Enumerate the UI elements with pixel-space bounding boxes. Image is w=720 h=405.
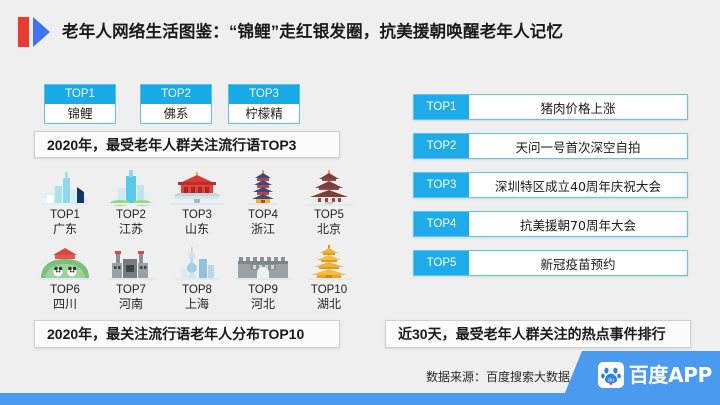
region-item-10[interactable]: TOP10 湖北: [296, 243, 362, 312]
buzzwords-caption: 2020年，最受老年人群关注流行语TOP3: [34, 131, 340, 158]
page-title: 老年人网络生活图鉴：“锦鲤”走红银发圈，抗美援朝唤醒老年人记忆: [62, 17, 563, 47]
temple-of-heaven-icon: [296, 168, 362, 208]
oriental-pearl-icon: [164, 243, 230, 283]
region-rank-1: TOP1: [32, 208, 98, 222]
skyline-icon: [32, 168, 98, 208]
baidu-app-brand[interactable]: du 百度APP: [598, 361, 712, 389]
hot-event-rank-1: TOP1: [414, 95, 469, 119]
buzzword-rank-1: TOP1: [45, 85, 115, 104]
region-name-4: 浙江: [230, 222, 296, 237]
buzzword-label-1: 锦鲤: [45, 104, 115, 123]
buzzword-chip-2[interactable]: TOP2 佛系: [140, 84, 212, 124]
tower-skyline-icon: [98, 168, 164, 208]
accent-blue-arrow-icon: [33, 17, 50, 47]
region-rank-5: TOP5: [296, 208, 362, 222]
buzzword-rank-2: TOP2: [141, 85, 211, 104]
hot-event-rank-4: TOP4: [414, 212, 469, 236]
buzzword-chip-1[interactable]: TOP1 锦鲤: [44, 84, 116, 124]
great-wall-icon: [230, 243, 296, 283]
region-item-1[interactable]: TOP1 广东: [32, 168, 98, 237]
factory-icon: [98, 243, 164, 283]
hot-event-label-3: 深圳特区成立40周年庆祝大会: [469, 173, 687, 197]
region-item-5[interactable]: TOP5 北京: [296, 168, 362, 237]
region-name-7: 河南: [98, 297, 164, 312]
region-item-3[interactable]: TOP3 山东: [164, 168, 230, 237]
region-rank-7: TOP7: [98, 283, 164, 297]
data-source-text: 数据来源：百度搜索大数据: [426, 368, 570, 385]
yellow-crane-tower-icon: [296, 243, 362, 283]
region-name-6: 四川: [32, 297, 98, 312]
region-name-8: 上海: [164, 297, 230, 312]
region-rank-3: TOP3: [164, 208, 230, 222]
hot-event-label-5: 新冠疫苗预约: [469, 251, 687, 275]
region-rank-10: TOP10: [296, 283, 362, 297]
header: 老年人网络生活图鉴：“锦鲤”走红银发圈，抗美援朝唤醒老年人记忆: [0, 0, 720, 62]
red-palace-icon: [164, 168, 230, 208]
hot-event-rank-5: TOP5: [414, 251, 469, 275]
buzzword-chip-3[interactable]: TOP3 柠檬精: [228, 84, 300, 124]
buzzword-label-3: 柠檬精: [229, 104, 299, 123]
region-name-1: 广东: [32, 222, 98, 237]
list-item[interactable]: TOP1 猪肉价格上涨: [413, 94, 688, 120]
region-name-5: 北京: [296, 222, 362, 237]
header-accent-mark: [18, 17, 50, 47]
region-item-9[interactable]: TOP9 河北: [230, 243, 296, 312]
region-name-9: 河北: [230, 297, 296, 312]
region-item-8[interactable]: TOP8 上海: [164, 243, 230, 312]
hot-event-rank-2: TOP2: [414, 134, 469, 158]
region-name-10: 湖北: [296, 297, 362, 312]
region-rank-8: TOP8: [164, 283, 230, 297]
region-name-2: 江苏: [98, 222, 164, 237]
hot-event-rank-3: TOP3: [414, 173, 469, 197]
buzzword-rank-3: TOP3: [229, 85, 299, 104]
list-item[interactable]: TOP3 深圳特区成立40周年庆祝大会: [413, 172, 688, 198]
baidu-paw-icon: du: [598, 362, 624, 388]
region-rank-6: TOP6: [32, 283, 98, 297]
hot-events-list: TOP1 猪肉价格上涨 TOP2 天问一号首次深空自拍 TOP3 深圳特区成立4…: [413, 94, 688, 289]
panda-pavilion-icon: [32, 243, 98, 283]
region-item-4[interactable]: TOP4 浙江: [230, 168, 296, 237]
pagoda-icon: [230, 168, 296, 208]
region-item-7[interactable]: TOP7 河南: [98, 243, 164, 312]
hot-events-caption-text: 近30天，最受老年人群关注的热点事件排行: [386, 324, 666, 344]
list-item[interactable]: TOP2 天问一号首次深空自拍: [413, 133, 688, 159]
region-item-2[interactable]: TOP2 江苏: [98, 168, 164, 237]
list-item[interactable]: TOP4 抗美援朝70周年大会: [413, 211, 688, 237]
region-grid: TOP1 广东 TOP2: [32, 168, 362, 318]
infographic-poster: 老年人网络生活图鉴：“锦鲤”走红银发圈，抗美援朝唤醒老年人记忆 TOP1 锦鲤 …: [0, 0, 720, 405]
svg-text:du: du: [607, 377, 615, 383]
accent-red-bar: [18, 17, 29, 47]
hot-events-caption: 近30天，最受老年人群关注的热点事件排行: [385, 320, 691, 348]
buzzword-label-2: 佛系: [141, 104, 211, 123]
region-rank-9: TOP9: [230, 283, 296, 297]
region-name-3: 山东: [164, 222, 230, 237]
region-row-1: TOP1 广东 TOP2: [32, 168, 362, 237]
regions-caption: 2020年，最关注流行语老年人分布TOP10: [34, 320, 340, 348]
hot-event-label-4: 抗美援朝70周年大会: [469, 212, 687, 236]
hot-event-label-2: 天问一号首次深空自拍: [469, 134, 687, 158]
region-rank-4: TOP4: [230, 208, 296, 222]
list-item[interactable]: TOP5 新冠疫苗预约: [413, 250, 688, 276]
regions-caption-text: 2020年，最关注流行语老年人分布TOP10: [35, 324, 304, 344]
baidu-app-label: 百度APP: [629, 362, 712, 388]
region-rank-2: TOP2: [98, 208, 164, 222]
region-item-6[interactable]: TOP6 四川: [32, 243, 98, 312]
region-row-2: TOP6 四川: [32, 243, 362, 312]
hot-event-label-1: 猪肉价格上涨: [469, 95, 687, 119]
buzzwords-caption-text: 2020年，最受老年人群关注流行语TOP3: [35, 135, 296, 155]
